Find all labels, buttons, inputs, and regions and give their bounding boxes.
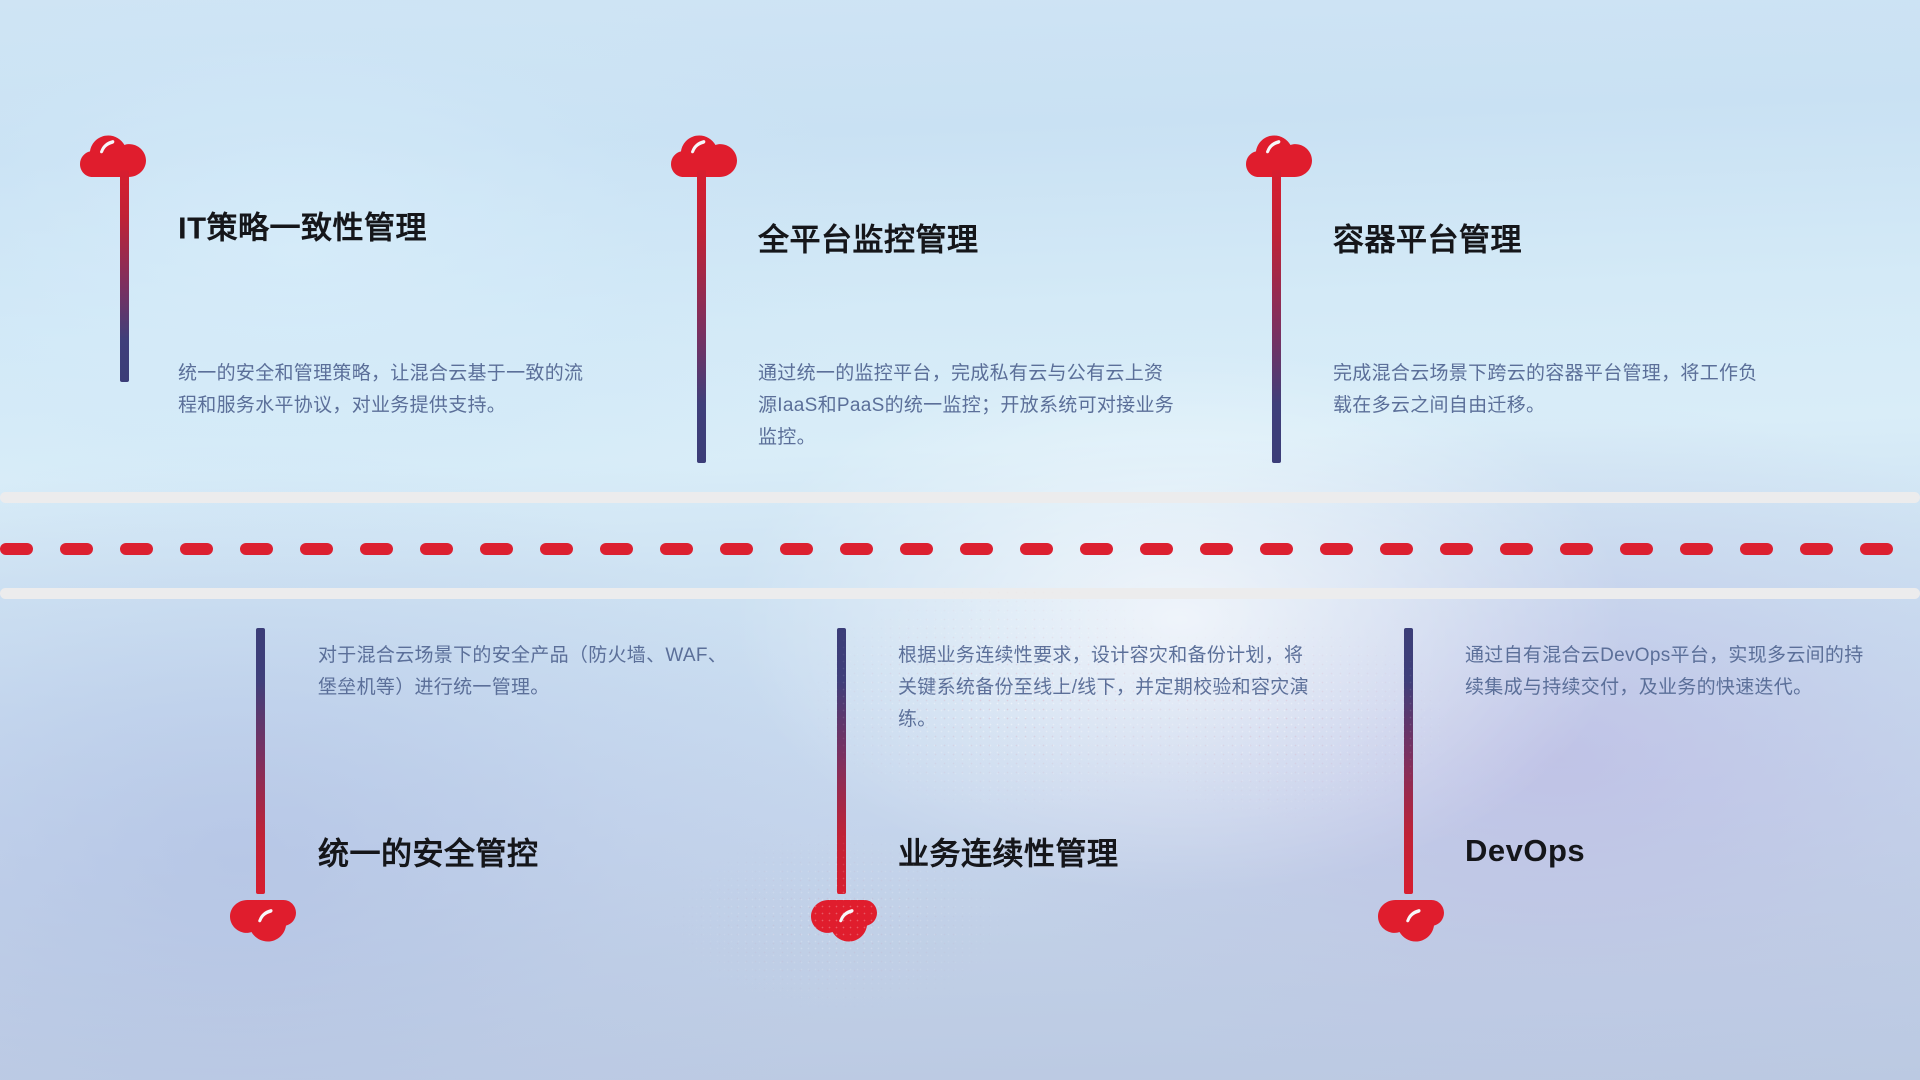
card-body-unified-security: 对于混合云场景下的安全产品（防火墙、WAF、堡垒机等）进行统一管理。 <box>318 640 728 704</box>
card-body-it-policy-consistency: 统一的安全和管理策略，让混合云基于一致的流程和服务水平协议，对业务提供支持。 <box>178 358 593 422</box>
road-edge-top <box>0 492 1920 503</box>
road-dash <box>1440 543 1473 555</box>
road-dash <box>120 543 153 555</box>
road-dash <box>1320 543 1353 555</box>
road-dash <box>720 543 753 555</box>
road-dash <box>960 543 993 555</box>
pin-stem <box>1404 628 1413 894</box>
card-body-business-continuity: 根据业务连续性要求，设计容灾和备份计划，将关键系统备份至线上/线下，并定期校验和… <box>898 640 1313 736</box>
cloud-icon <box>811 900 877 946</box>
road-dash <box>1860 543 1893 555</box>
pin-stem <box>837 628 846 894</box>
road-dash <box>1800 543 1833 555</box>
road-dash <box>0 543 33 555</box>
road-dash <box>60 543 93 555</box>
road-center-dashes <box>0 543 1920 555</box>
card-title-devops: DevOps <box>1465 833 1585 869</box>
road-dash <box>660 543 693 555</box>
card-title-unified-security: 统一的安全管控 <box>318 829 539 874</box>
road-dash <box>900 543 933 555</box>
pin-stem <box>1272 170 1281 463</box>
road-dash <box>1620 543 1653 555</box>
card-title-container-platform: 容器平台管理 <box>1333 215 1522 260</box>
road-dash <box>1740 543 1773 555</box>
road-dash <box>480 543 513 555</box>
road-dash <box>1200 543 1233 555</box>
road-dash <box>180 543 213 555</box>
road-dash <box>1680 543 1713 555</box>
pin-stem <box>256 628 265 894</box>
card-body-container-platform: 完成混合云场景下跨云的容器平台管理，将工作负载在多云之间自由迁移。 <box>1333 358 1758 422</box>
cloud-icon <box>80 131 146 177</box>
pin-stem <box>120 170 129 382</box>
road-dash <box>540 543 573 555</box>
road-dash <box>1260 543 1293 555</box>
road-dash <box>840 543 873 555</box>
card-title-it-policy-consistency: IT策略一致性管理 <box>178 203 427 248</box>
road-dash <box>1500 543 1533 555</box>
road-dash <box>1080 543 1113 555</box>
pin-stem <box>697 170 706 463</box>
card-title-full-platform-monitoring: 全平台监控管理 <box>758 215 979 260</box>
road-dash <box>420 543 453 555</box>
road-dash <box>360 543 393 555</box>
card-body-full-platform-monitoring: 通过统一的监控平台，完成私有云与公有云上资源IaaS和PaaS的统一监控；开放系… <box>758 358 1178 454</box>
cloud-icon <box>230 900 296 946</box>
diagram-canvas: IT策略一致性管理 统一的安全和管理策略，让混合云基于一致的流程和服务水平协议，… <box>0 0 1920 1080</box>
road-dash <box>1140 543 1173 555</box>
road-dash <box>1020 543 1053 555</box>
cloud-icon <box>1378 900 1444 946</box>
road-dash <box>240 543 273 555</box>
road-dash <box>1380 543 1413 555</box>
road-dash <box>780 543 813 555</box>
card-title-business-continuity: 业务连续性管理 <box>898 829 1119 874</box>
road-edge-bottom <box>0 588 1920 599</box>
road-dash <box>300 543 333 555</box>
road-dash <box>1560 543 1593 555</box>
road-dash <box>600 543 633 555</box>
card-body-devops: 通过自有混合云DevOps平台，实现多云间的持续集成与持续交付，及业务的快速迭代… <box>1465 640 1875 704</box>
